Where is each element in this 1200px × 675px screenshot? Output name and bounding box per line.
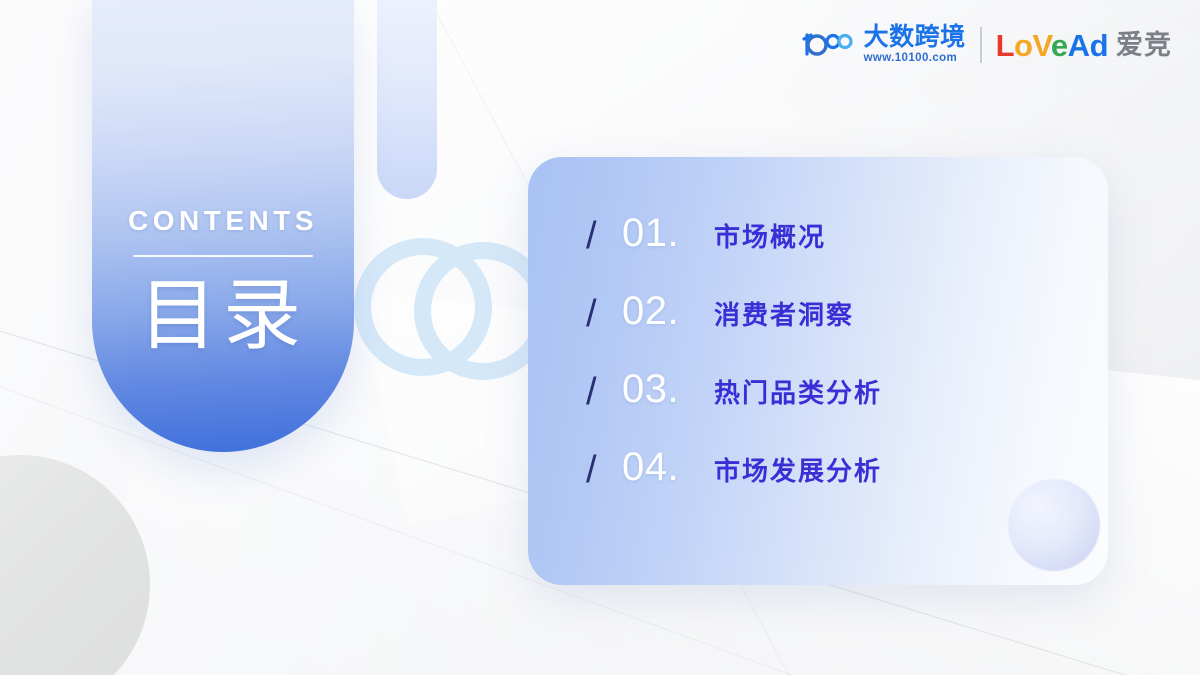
toc-number: 04. — [622, 447, 714, 487]
toc-item-01[interactable]: / 01. 市场概况 — [586, 213, 1108, 251]
slide-canvas: CONTENTS 目录 大数跨境 www.10100.com LoVeAd 爱竞 — [0, 0, 1200, 675]
toc-number: 01. — [622, 213, 714, 253]
logo-letter-l: L — [996, 28, 1014, 63]
toc-slash: / — [586, 451, 622, 489]
10100-infinity-logo-icon — [801, 30, 857, 60]
toc-slash: / — [586, 217, 622, 255]
contents-label-cn: 目录 — [139, 273, 307, 359]
toc-title: 消费者洞察 — [714, 302, 854, 328]
logo-lovead[interactable]: LoVeAd 爱竞 — [996, 30, 1172, 61]
toc-title: 市场发展分析 — [714, 458, 882, 484]
toc-title: 热门品类分析 — [714, 380, 882, 406]
contents-card: / 01. 市场概况 / 02. 消费者洞察 / 03. 热门品类分析 / 04… — [528, 157, 1108, 585]
contents-label-en: CONTENTS — [128, 207, 318, 235]
logo-letter-d: d — [1090, 28, 1108, 63]
toc-item-03[interactable]: / 03. 热门品类分析 — [586, 369, 1108, 407]
toc-item-04[interactable]: / 04. 市场发展分析 — [586, 447, 1108, 485]
logo-lovead-wordmark: LoVeAd — [996, 30, 1108, 61]
contents-panel-text: CONTENTS 目录 — [92, 0, 354, 458]
logo-dashukuajing-cn: 大数跨境 — [864, 25, 966, 50]
light-blue-pill-decoration — [377, 0, 437, 199]
logo-letter-v: V — [1032, 28, 1050, 63]
toc-slash: / — [586, 373, 622, 411]
card-glow-sphere — [1008, 479, 1100, 571]
logo-dashukuajing[interactable]: 大数跨境 www.10100.com — [801, 25, 966, 65]
contents-divider — [133, 255, 313, 257]
logo-dashukuajing-url: www.10100.com — [864, 53, 958, 65]
logo-letter-a: A — [1068, 28, 1090, 63]
toc-title: 市场概况 — [714, 224, 826, 250]
logo-letter-e: e — [1051, 28, 1068, 63]
double-ring-watermark-icon — [352, 232, 552, 382]
header-logo-bar: 大数跨境 www.10100.com LoVeAd 爱竞 — [801, 22, 1172, 68]
logo-letter-o: o — [1014, 28, 1032, 63]
toc-slash: / — [586, 295, 622, 333]
toc-number: 03. — [622, 369, 714, 409]
logo-separator — [980, 27, 982, 63]
toc-number: 02. — [622, 291, 714, 331]
logo-dashukuajing-wordmark: 大数跨境 www.10100.com — [864, 25, 966, 65]
logo-lovead-cn: 爱竞 — [1116, 32, 1172, 59]
toc-item-02[interactable]: / 02. 消费者洞察 — [586, 291, 1108, 329]
toc-list: / 01. 市场概况 / 02. 消费者洞察 / 03. 热门品类分析 / 04… — [586, 213, 1108, 485]
